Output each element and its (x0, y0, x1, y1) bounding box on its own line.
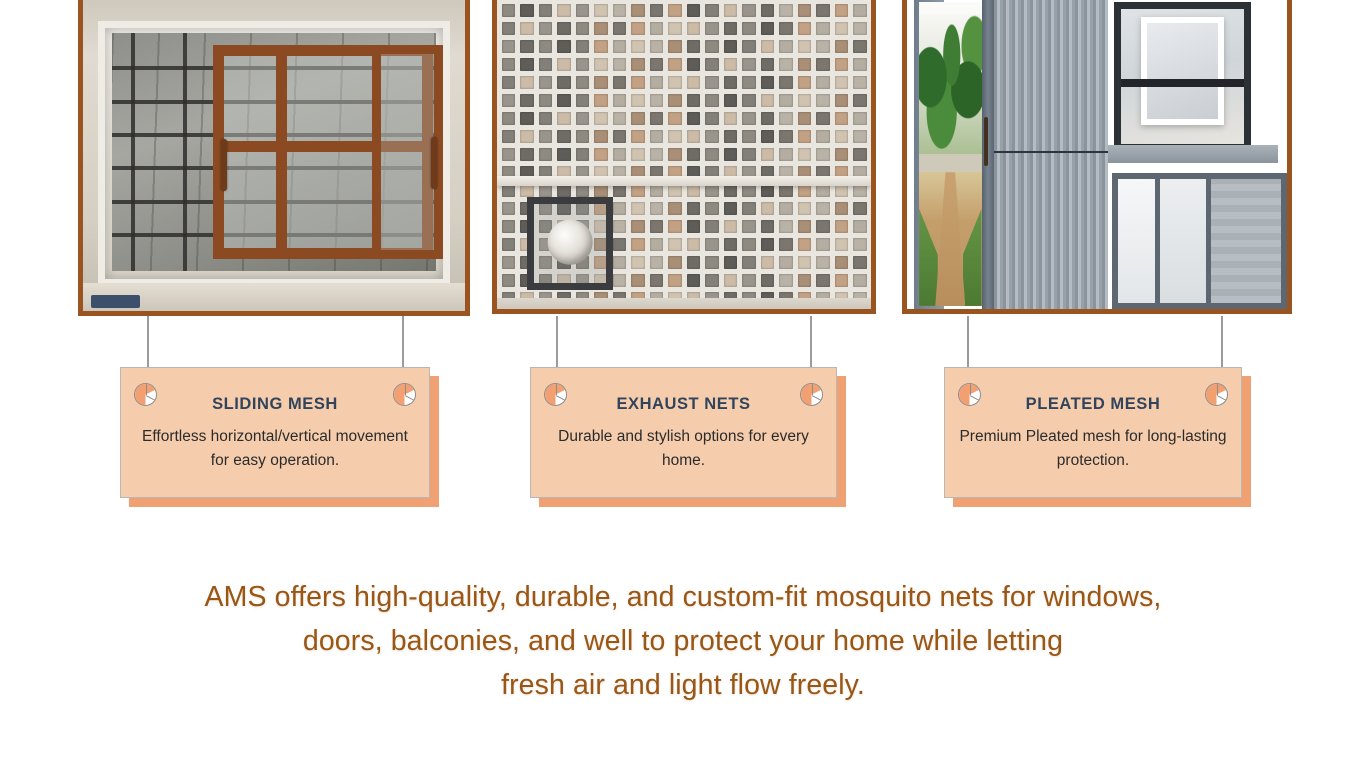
jali-block (502, 274, 516, 287)
sash-handle (431, 137, 437, 189)
jali-block (668, 40, 682, 53)
jali-block (779, 148, 793, 161)
jali-block (742, 202, 756, 215)
jali-block (742, 76, 756, 89)
grill-bar (131, 33, 135, 272)
jali-block (761, 40, 775, 53)
jali-block (613, 40, 627, 53)
mesh-window-pane (1141, 17, 1225, 125)
door-pane (1118, 179, 1160, 303)
sill-object (91, 295, 141, 307)
jali-block (798, 76, 812, 89)
jali-block (613, 4, 627, 17)
jali-block (779, 130, 793, 143)
jali-block (705, 112, 719, 125)
jali-block (539, 112, 553, 125)
card-title: PLEATED MESH (1026, 395, 1161, 414)
jali-block (650, 220, 664, 233)
jali-block (835, 58, 849, 71)
jali-block (668, 130, 682, 143)
jali-block (742, 148, 756, 161)
jali-block (687, 274, 701, 287)
jali-block (520, 148, 534, 161)
jali-block (742, 94, 756, 107)
jali-block (742, 58, 756, 71)
jali-block (576, 22, 590, 35)
jali-block (853, 274, 867, 287)
exhaust-fan-disc (548, 220, 593, 265)
jali-block (816, 130, 830, 143)
jali-block (557, 40, 571, 53)
jali-block (835, 40, 849, 53)
jali-block (631, 148, 645, 161)
jali-block (779, 40, 793, 53)
jali-block (761, 112, 775, 125)
jali-block (724, 94, 738, 107)
mesh-window (1114, 2, 1252, 151)
jali-block (705, 148, 719, 161)
card-description: Effortless horizontal/vertical movement … (135, 425, 415, 472)
jali-block (761, 220, 775, 233)
jali-block (761, 238, 775, 251)
jali-block (668, 58, 682, 71)
jali-block (502, 76, 516, 89)
jali-block (724, 256, 738, 269)
jali-shelf (497, 176, 871, 186)
jali-block (668, 4, 682, 17)
jali-block (631, 40, 645, 53)
jali-block (853, 112, 867, 125)
jali-block (594, 58, 608, 71)
jali-block (798, 274, 812, 287)
jali-block (835, 112, 849, 125)
jali-block (539, 130, 553, 143)
pie-chart-icon (800, 383, 823, 406)
jali-block (613, 202, 627, 215)
jali-block (576, 58, 590, 71)
jali-block (835, 76, 849, 89)
jali-block (539, 148, 553, 161)
jali-block (520, 4, 534, 17)
pie-chart-icon (1205, 383, 1228, 406)
jali-block (853, 220, 867, 233)
jali-block (539, 4, 553, 17)
jali-wall (497, 0, 871, 309)
jali-block (576, 112, 590, 125)
jali-block (742, 4, 756, 17)
grill-bar (183, 33, 187, 272)
jali-block (650, 76, 664, 89)
jali-block (520, 94, 534, 107)
pie-chart-icon (958, 383, 981, 406)
jali-block (594, 76, 608, 89)
jali-block (668, 94, 682, 107)
jali-block (502, 112, 516, 125)
jali-block (687, 238, 701, 251)
jali-block (687, 148, 701, 161)
jali-block (668, 256, 682, 269)
jali-block (742, 274, 756, 287)
jali-block (705, 76, 719, 89)
footer-line-2: doors, balconies, and well to protect yo… (0, 619, 1366, 663)
jali-block (668, 274, 682, 287)
jali-block (594, 94, 608, 107)
jali-block (502, 58, 516, 71)
jali-block (835, 148, 849, 161)
jali-block (631, 274, 645, 287)
jali-block (539, 22, 553, 35)
window-sill (83, 283, 465, 311)
jali-block (798, 22, 812, 35)
card-surface[interactable]: PLEATED MESH Premium Pleated mesh for lo… (944, 367, 1242, 498)
garden-hedge-right (963, 184, 982, 306)
jali-block (650, 130, 664, 143)
jali-block (779, 58, 793, 71)
jali-block (539, 40, 553, 53)
jali-block (742, 220, 756, 233)
jali-block (502, 40, 516, 53)
jali-block (613, 256, 627, 269)
jali-block (779, 76, 793, 89)
garden-path (935, 172, 965, 306)
jali-block (668, 202, 682, 215)
card-surface[interactable]: SLIDING MESH Effortless horizontal/verti… (120, 367, 430, 498)
jali-block (631, 4, 645, 17)
jali-block (816, 148, 830, 161)
jali-block (650, 202, 664, 215)
jali-block (687, 220, 701, 233)
jali-block (779, 274, 793, 287)
jali-block (798, 256, 812, 269)
jali-base (497, 298, 871, 309)
jali-block (502, 256, 516, 269)
jali-block (576, 76, 590, 89)
jali-block (705, 274, 719, 287)
jali-block (668, 220, 682, 233)
jali-block (613, 130, 627, 143)
jali-block (816, 202, 830, 215)
jali-block (650, 58, 664, 71)
jali-block (835, 238, 849, 251)
jali-block (557, 4, 571, 17)
jali-block (613, 274, 627, 287)
jali-block (853, 4, 867, 17)
photo-1-content (83, 0, 465, 311)
jali-block (539, 76, 553, 89)
jali-block (761, 76, 775, 89)
jali-block (816, 256, 830, 269)
jali-block (705, 4, 719, 17)
photo-2-content (497, 0, 871, 309)
jali-block (668, 112, 682, 125)
mesh-window-bar (1121, 79, 1245, 87)
jali-block (502, 130, 516, 143)
sash-handle (221, 139, 227, 191)
jali-block (687, 76, 701, 89)
jali-block (835, 220, 849, 233)
jali-block (557, 58, 571, 71)
footer-paragraph: AMS offers high-quality, durable, and cu… (0, 575, 1366, 708)
jali-block (835, 202, 849, 215)
jali-block (613, 148, 627, 161)
card-surface[interactable]: EXHAUST NETS Durable and stylish options… (530, 367, 837, 498)
pie-chart-icon (393, 383, 416, 406)
jali-block (557, 148, 571, 161)
jali-block (761, 94, 775, 107)
jali-block (798, 4, 812, 17)
jali-block (798, 148, 812, 161)
jali-block (835, 4, 849, 17)
jali-block (613, 220, 627, 233)
info-card-exhaust-nets[interactable]: EXHAUST NETS Durable and stylish options… (530, 367, 837, 498)
jali-block (502, 220, 516, 233)
jali-block (668, 22, 682, 35)
jali-block (576, 4, 590, 17)
jali-block (835, 94, 849, 107)
jali-block (539, 58, 553, 71)
jali-block (835, 256, 849, 269)
jali-block (502, 202, 516, 215)
jali-block (761, 4, 775, 17)
jali-block (779, 256, 793, 269)
jali-block (557, 76, 571, 89)
jali-block (631, 256, 645, 269)
jali-block (724, 58, 738, 71)
jali-block (650, 238, 664, 251)
jali-block (816, 76, 830, 89)
jali-block (724, 202, 738, 215)
jali-block (779, 202, 793, 215)
jali-block (705, 238, 719, 251)
jali-block (816, 220, 830, 233)
jali-block (798, 130, 812, 143)
jali-block (613, 76, 627, 89)
card-title: SLIDING MESH (212, 395, 338, 414)
jali-block (594, 112, 608, 125)
jali-block (779, 238, 793, 251)
jali-block (779, 94, 793, 107)
jali-block (668, 148, 682, 161)
window-reveal (98, 21, 449, 286)
jali-block (613, 58, 627, 71)
jali-block (650, 40, 664, 53)
jali-block (742, 130, 756, 143)
fixed-sash-right (372, 45, 443, 259)
jali-block (761, 256, 775, 269)
jali-block (835, 274, 849, 287)
jali-block (816, 94, 830, 107)
jali-block (835, 130, 849, 143)
jali-block (705, 22, 719, 35)
jali-block (650, 148, 664, 161)
jali-block (594, 4, 608, 17)
card-description: Premium Pleated mesh for long-lasting pr… (959, 425, 1227, 472)
jali-block (594, 22, 608, 35)
jali-block (816, 58, 830, 71)
jali-block (705, 202, 719, 215)
jali-block (761, 58, 775, 71)
jali-block (705, 256, 719, 269)
mesh-sliding-door (1112, 173, 1287, 309)
jali-block (853, 58, 867, 71)
jali-block (687, 112, 701, 125)
jali-block (742, 256, 756, 269)
jali-block (650, 4, 664, 17)
pie-chart-icon (134, 383, 157, 406)
jali-block (594, 40, 608, 53)
jali-block (798, 58, 812, 71)
marketing-infographic-page: SLIDING MESH Effortless horizontal/verti… (0, 0, 1366, 768)
door-mesh-pane (1211, 179, 1281, 303)
jali-block (687, 58, 701, 71)
sash-mullion (276, 56, 287, 248)
jali-block (576, 130, 590, 143)
jali-block (724, 274, 738, 287)
jali-block (724, 22, 738, 35)
jali-block (853, 256, 867, 269)
jali-block (724, 130, 738, 143)
jali-block (631, 22, 645, 35)
jali-block (520, 112, 534, 125)
jali-block (668, 238, 682, 251)
info-card-sliding-mesh[interactable]: SLIDING MESH Effortless horizontal/verti… (120, 367, 430, 498)
garden-hedge-left (919, 184, 938, 306)
jali-block (576, 94, 590, 107)
jali-block (816, 4, 830, 17)
jali-block (761, 130, 775, 143)
jali-block (502, 148, 516, 161)
jali-block (631, 58, 645, 71)
jali-block (687, 40, 701, 53)
jali-block (687, 130, 701, 143)
footer-line-3: fresh air and light flow freely. (0, 663, 1366, 707)
info-card-pleated-mesh[interactable]: PLEATED MESH Premium Pleated mesh for lo… (944, 367, 1242, 498)
jali-block (724, 238, 738, 251)
jali-block (705, 40, 719, 53)
jali-block (557, 22, 571, 35)
jali-block (650, 274, 664, 287)
jali-block (557, 94, 571, 107)
jali-block (705, 220, 719, 233)
garden-railing (919, 154, 981, 172)
jali-block (668, 76, 682, 89)
jali-block (631, 112, 645, 125)
jali-block (687, 4, 701, 17)
jali-block (742, 238, 756, 251)
pleated-door-scene (907, 0, 1108, 309)
jali-block (557, 130, 571, 143)
jali-block (576, 40, 590, 53)
jali-block (594, 130, 608, 143)
jali-block (724, 4, 738, 17)
jali-block (816, 238, 830, 251)
jali-block (779, 112, 793, 125)
jali-block (835, 22, 849, 35)
jali-block (502, 238, 516, 251)
jali-block (613, 94, 627, 107)
photo-3-content (907, 0, 1287, 309)
jali-block (650, 256, 664, 269)
jali-block (520, 76, 534, 89)
jali-block (761, 274, 775, 287)
card-title: EXHAUST NETS (616, 395, 750, 414)
jali-block (853, 202, 867, 215)
jali-block (798, 202, 812, 215)
jali-block (798, 40, 812, 53)
door-pane (1160, 179, 1211, 303)
card-description: Durable and stylish options for every ho… (545, 425, 822, 472)
jali-block (816, 112, 830, 125)
jali-block (853, 94, 867, 107)
mesh-window-sill (1108, 145, 1278, 164)
jali-block (724, 220, 738, 233)
jali-block (853, 22, 867, 35)
exhaust-fan-frame (527, 197, 613, 290)
jali-block (502, 22, 516, 35)
jali-block (779, 22, 793, 35)
jali-block (687, 94, 701, 107)
garden-trees (919, 14, 981, 172)
jali-block (742, 40, 756, 53)
jali-block (613, 22, 627, 35)
footer-line-1: AMS offers high-quality, durable, and cu… (0, 575, 1366, 619)
door-handle (984, 117, 987, 167)
jali-block (853, 76, 867, 89)
jali-block (761, 202, 775, 215)
jali-block (631, 202, 645, 215)
jali-block (798, 238, 812, 251)
jali-block (705, 94, 719, 107)
jali-block (539, 94, 553, 107)
jali-block (705, 58, 719, 71)
jali-block (724, 148, 738, 161)
jali-block (761, 22, 775, 35)
jali-block (650, 112, 664, 125)
jali-block (631, 220, 645, 233)
jali-block (742, 22, 756, 35)
jali-block (631, 94, 645, 107)
jali-block (705, 130, 719, 143)
jali-block (631, 130, 645, 143)
jali-block (779, 220, 793, 233)
exhaust-nets-jali-photo (492, 0, 876, 314)
jali-block (853, 148, 867, 161)
jali-block (853, 130, 867, 143)
mesh-window-scene (1108, 0, 1287, 309)
jali-block (520, 130, 534, 143)
jali-block (687, 256, 701, 269)
jali-block (853, 238, 867, 251)
jali-block (724, 112, 738, 125)
jali-block (798, 94, 812, 107)
jali-block (798, 112, 812, 125)
jali-block (687, 202, 701, 215)
garden-view (919, 2, 981, 306)
jali-block (853, 40, 867, 53)
jali-block (520, 40, 534, 53)
jali-block (613, 238, 627, 251)
jali-block (650, 22, 664, 35)
jali-block (613, 112, 627, 125)
jali-block (816, 22, 830, 35)
jali-block (798, 220, 812, 233)
jali-block (779, 4, 793, 17)
pleated-mesh-panel (994, 0, 1109, 309)
jali-block (502, 94, 516, 107)
jali-block (557, 112, 571, 125)
jali-block (816, 40, 830, 53)
pie-chart-icon (544, 383, 567, 406)
